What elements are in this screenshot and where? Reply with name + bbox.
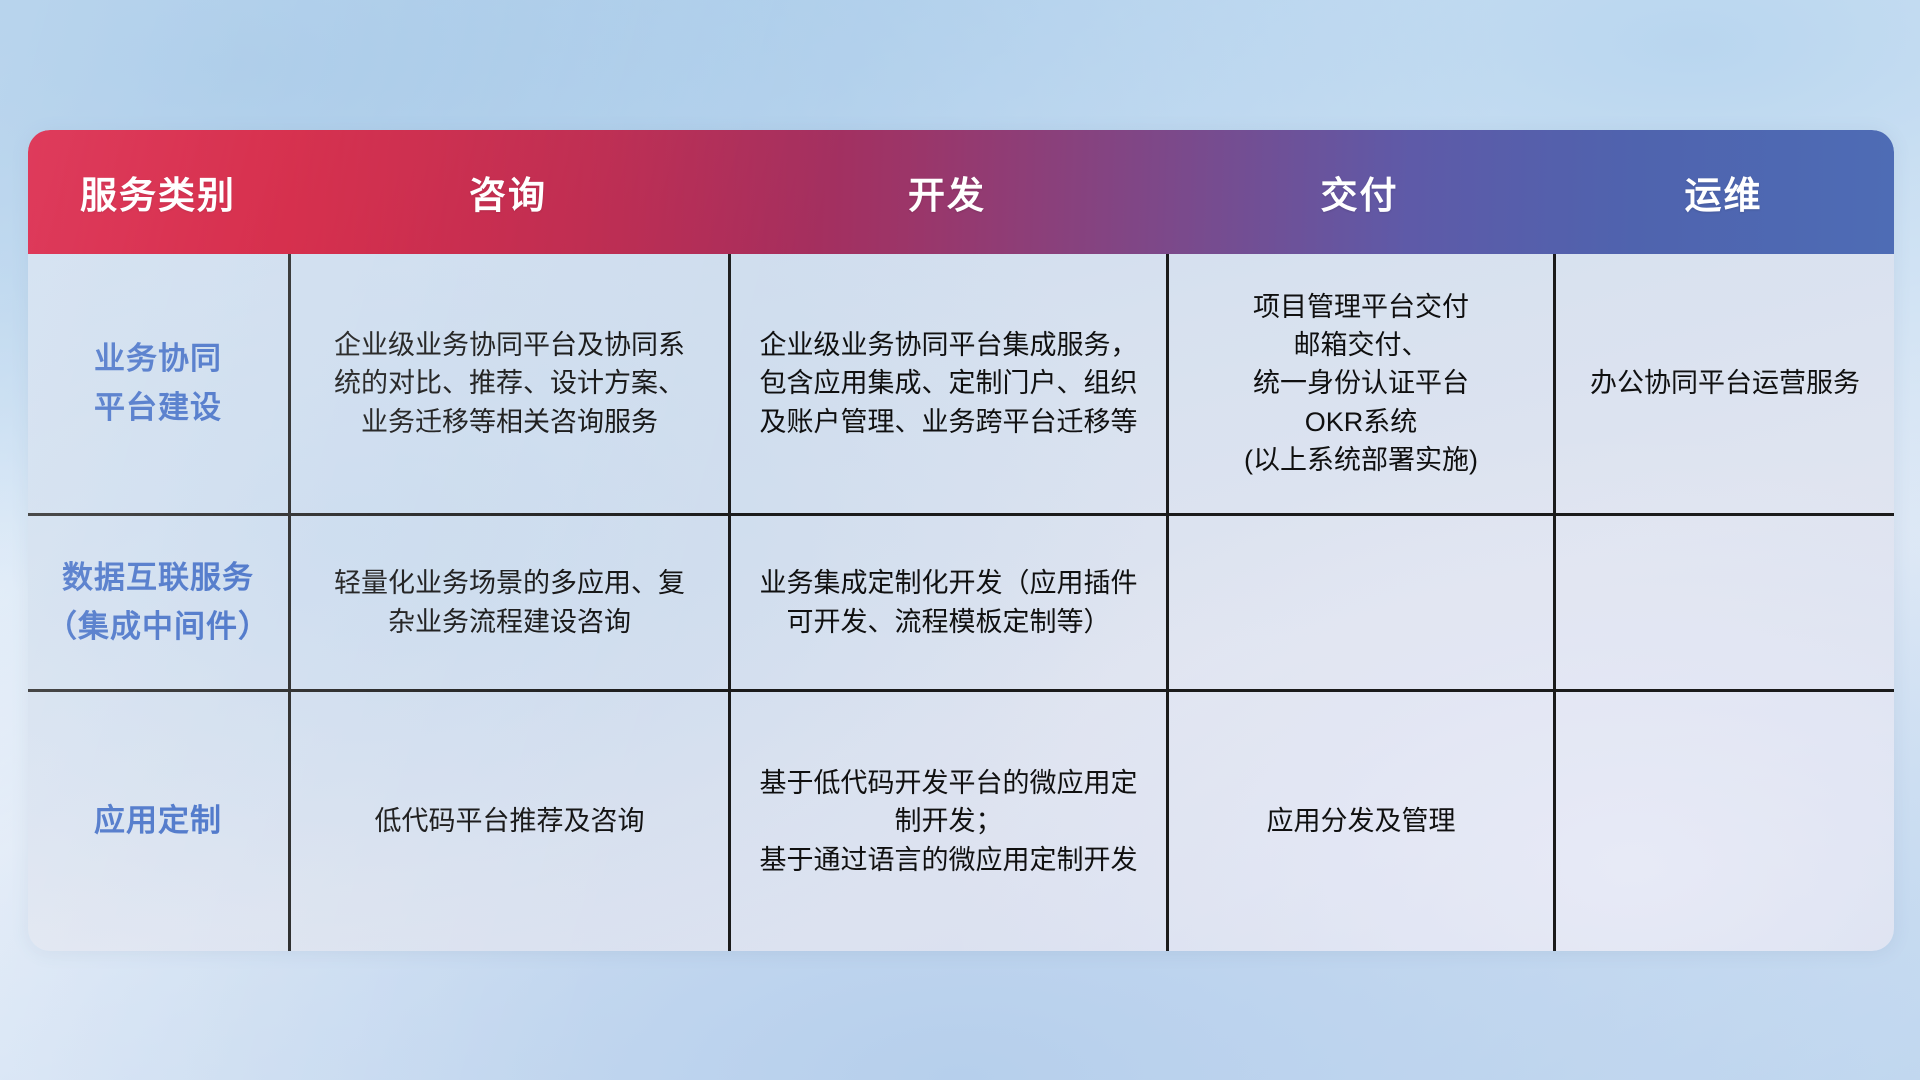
cell-development: 企业级业务协同平台集成服务， 包含应用集成、定制门户、组织 及账户管理、业务跨平… — [728, 254, 1166, 513]
cell-operations: 办公协同平台运营服务 — [1553, 254, 1894, 513]
table-header-row: 服务类别 咨询 开发 交付 运维 — [28, 130, 1894, 254]
column-header-operations: 运维 — [1553, 165, 1894, 219]
cell-consulting: 企业级业务协同平台及协同系 统的对比、推荐、设计方案、 业务迁移等相关咨询服务 — [288, 254, 728, 513]
cell-operations — [1553, 516, 1894, 689]
cell-operations — [1553, 692, 1894, 951]
cell-delivery: 应用分发及管理 — [1166, 692, 1553, 951]
table-row: 数据互联服务 （集成中间件） 轻量化业务场景的多应用、复 杂业务流程建设咨询 业… — [28, 516, 1894, 692]
row-category-label: 应用定制 — [28, 692, 288, 951]
row-category-label: 数据互联服务 （集成中间件） — [28, 516, 288, 689]
cell-development: 基于低代码开发平台的微应用定 制开发； 基于通过语言的微应用定制开发 — [728, 692, 1166, 951]
column-header-development: 开发 — [728, 165, 1166, 219]
cell-consulting: 轻量化业务场景的多应用、复 杂业务流程建设咨询 — [288, 516, 728, 689]
table-row: 业务协同 平台建设 企业级业务协同平台及协同系 统的对比、推荐、设计方案、 业务… — [28, 254, 1894, 516]
cell-delivery — [1166, 516, 1553, 689]
row-category-label: 业务协同 平台建设 — [28, 254, 288, 513]
table-row: 应用定制 低代码平台推荐及咨询 基于低代码开发平台的微应用定 制开发； 基于通过… — [28, 692, 1894, 951]
cell-delivery: 项目管理平台交付 邮箱交付、 统一身份认证平台 OKR系统 (以上系统部署实施) — [1166, 254, 1553, 513]
cell-consulting: 低代码平台推荐及咨询 — [288, 692, 728, 951]
service-matrix-table: 服务类别 咨询 开发 交付 运维 业务协同 平台建设 企业级业务协同平台及协同系… — [28, 130, 1894, 951]
cell-development: 业务集成定制化开发（应用插件 可开发、流程模板定制等） — [728, 516, 1166, 689]
column-header-consulting: 咨询 — [288, 165, 728, 219]
column-header-delivery: 交付 — [1166, 165, 1553, 219]
slide-canvas: 服务类别 咨询 开发 交付 运维 业务协同 平台建设 企业级业务协同平台及协同系… — [0, 0, 1920, 1080]
table-body: 业务协同 平台建设 企业级业务协同平台及协同系 统的对比、推荐、设计方案、 业务… — [28, 254, 1894, 951]
column-header-service-category: 服务类别 — [28, 165, 288, 219]
